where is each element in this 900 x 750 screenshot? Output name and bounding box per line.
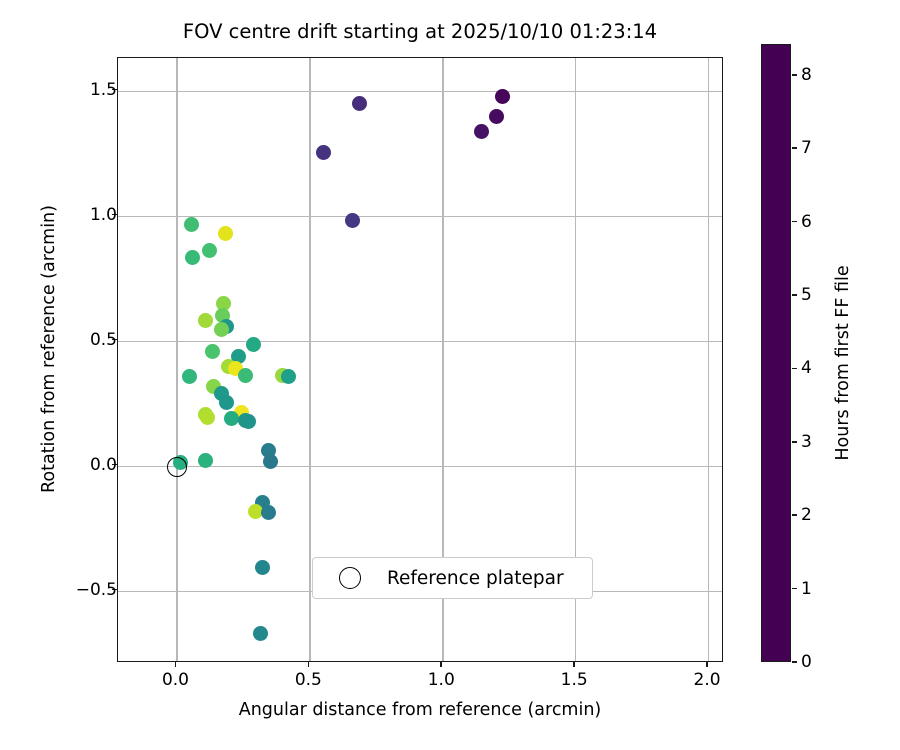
colorbar-gradient bbox=[762, 45, 790, 661]
colorbar-label: Hours from first FF file bbox=[833, 163, 853, 563]
scatter-point bbox=[263, 454, 278, 469]
colorbar-tick-label: 5 bbox=[801, 285, 812, 305]
x-tick-label: 1.5 bbox=[561, 670, 588, 690]
x-tick-mark bbox=[440, 662, 442, 667]
scatter-point bbox=[205, 344, 220, 359]
scatter-point bbox=[253, 626, 268, 641]
scatter-point bbox=[261, 505, 276, 520]
colorbar-tick-label: 6 bbox=[801, 212, 812, 232]
scatter-point bbox=[352, 96, 367, 111]
scatter-point bbox=[316, 145, 331, 160]
scatter-point bbox=[185, 250, 200, 265]
chart-title: FOV centre drift starting at 2025/10/10 … bbox=[117, 20, 723, 43]
figure-container: FOV centre drift starting at 2025/10/10 … bbox=[0, 0, 900, 750]
colorbar-tick-mark bbox=[792, 294, 797, 296]
x-tick-label: 0.0 bbox=[162, 670, 189, 690]
x-tick-label: 1.0 bbox=[428, 670, 455, 690]
scatter-point bbox=[198, 313, 213, 328]
scatter-point bbox=[184, 217, 199, 232]
scatter-point bbox=[246, 337, 261, 352]
scatter-point bbox=[489, 109, 504, 124]
y-tick-label: 1.5 bbox=[90, 80, 117, 100]
scatter-point bbox=[241, 414, 256, 429]
colorbar-tick-mark bbox=[792, 221, 797, 223]
y-tick-label: 0.5 bbox=[90, 330, 117, 350]
x-tick-mark bbox=[573, 662, 575, 667]
colorbar-tick-mark bbox=[792, 661, 797, 663]
colorbar-tick-mark bbox=[792, 368, 797, 370]
reference-platepar-point bbox=[167, 457, 187, 477]
colorbar-tick-mark bbox=[792, 74, 797, 76]
scatter-point bbox=[345, 213, 360, 228]
scatter-point bbox=[200, 410, 215, 425]
colorbar-tick-label: 7 bbox=[801, 138, 812, 158]
scatter-point bbox=[214, 322, 229, 337]
colorbar-tick-label: 1 bbox=[801, 579, 812, 599]
colorbar-tick-mark bbox=[792, 441, 797, 443]
scatter-point bbox=[474, 124, 489, 139]
scatter-point bbox=[202, 243, 217, 258]
colorbar-tick-label: 8 bbox=[801, 65, 812, 85]
legend-entry-label: Reference platepar bbox=[387, 568, 564, 589]
colorbar-tick-label: 4 bbox=[801, 358, 812, 378]
x-tick-label: 2.0 bbox=[694, 670, 721, 690]
x-tick-mark bbox=[175, 662, 177, 667]
y-tick-label: 1.0 bbox=[90, 205, 117, 225]
x-tick-label: 0.5 bbox=[295, 670, 322, 690]
y-tick-label: −0.5 bbox=[76, 580, 117, 600]
colorbar-tick-mark bbox=[792, 514, 797, 516]
scatter-point bbox=[255, 560, 270, 575]
y-tick-label: 0.0 bbox=[90, 455, 117, 475]
y-axis-label: Rotation from reference (arcmin) bbox=[39, 149, 59, 549]
x-axis-label: Angular distance from reference (arcmin) bbox=[117, 700, 723, 720]
scatter-point bbox=[182, 369, 197, 384]
colorbar bbox=[761, 44, 791, 662]
scatter-point bbox=[219, 395, 234, 410]
scatter-point bbox=[495, 89, 510, 104]
scatter-point bbox=[238, 368, 253, 383]
colorbar-tick-label: 0 bbox=[801, 652, 812, 672]
legend-box: Reference platepar bbox=[312, 557, 593, 599]
scatter-point bbox=[224, 411, 239, 426]
reference-platepar-marker-icon bbox=[339, 567, 361, 589]
colorbar-tick-label: 2 bbox=[801, 505, 812, 525]
colorbar-tick-label: 3 bbox=[801, 432, 812, 452]
x-tick-mark bbox=[308, 662, 310, 667]
scatter-point bbox=[218, 226, 233, 241]
x-tick-mark bbox=[706, 662, 708, 667]
colorbar-tick-mark bbox=[792, 147, 797, 149]
scatter-point bbox=[281, 369, 296, 384]
colorbar-tick-mark bbox=[792, 588, 797, 590]
scatter-point bbox=[198, 453, 213, 468]
